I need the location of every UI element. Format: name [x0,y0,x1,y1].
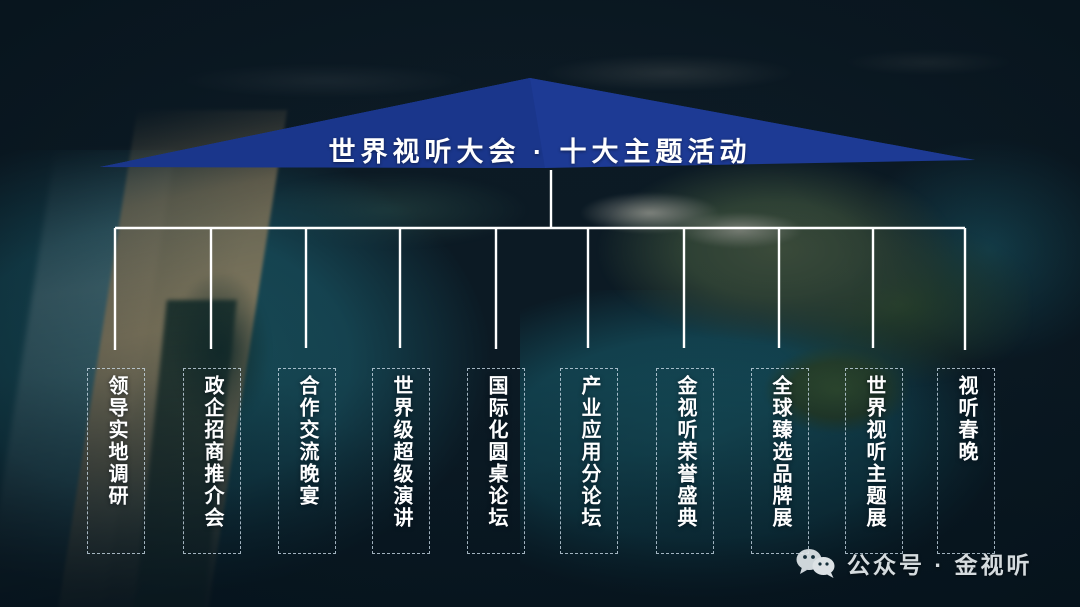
activity-box-7[interactable]: 金视听荣誉盛典 [656,368,714,554]
activity-box-row: 领导实地调研 政企招商推介会 合作交流晚宴 世界级超级演讲 国际化圆桌论坛 产业… [0,0,1080,607]
activity-label-7: 金视听荣誉盛典 [675,369,695,529]
slide-canvas: 世界视听大会 · 十大主题活动 领导实地调研 政企招商推介会 [0,0,1080,607]
activity-box-8[interactable]: 全球臻选品牌展 [751,368,809,554]
activity-box-9[interactable]: 世界视听主题展 [845,368,903,554]
activity-label-5: 国际化圆桌论坛 [486,369,506,529]
activity-label-4: 世界级超级演讲 [391,369,411,529]
activity-label-10: 视听春晚 [956,369,976,463]
activity-label-3: 合作交流晚宴 [297,369,317,507]
activity-box-1[interactable]: 领导实地调研 [87,368,145,554]
activity-label-2: 政企招商推介会 [202,369,222,529]
activity-box-4[interactable]: 世界级超级演讲 [372,368,430,554]
activity-box-3[interactable]: 合作交流晚宴 [278,368,336,554]
activity-label-6: 产业应用分论坛 [579,369,599,529]
activity-label-9: 世界视听主题展 [864,369,884,529]
wechat-icon [795,548,837,578]
activity-box-10[interactable]: 视听春晚 [937,368,995,554]
activity-label-8: 全球臻选品牌展 [770,369,790,529]
activity-label-1: 领导实地调研 [106,369,126,507]
watermark: 公众号 · 金视听 [795,546,1032,580]
activity-box-6[interactable]: 产业应用分论坛 [560,368,618,554]
watermark-text: 公众号 · 金视听 [847,546,1032,580]
activity-box-5[interactable]: 国际化圆桌论坛 [467,368,525,554]
activity-box-2[interactable]: 政企招商推介会 [183,368,241,554]
